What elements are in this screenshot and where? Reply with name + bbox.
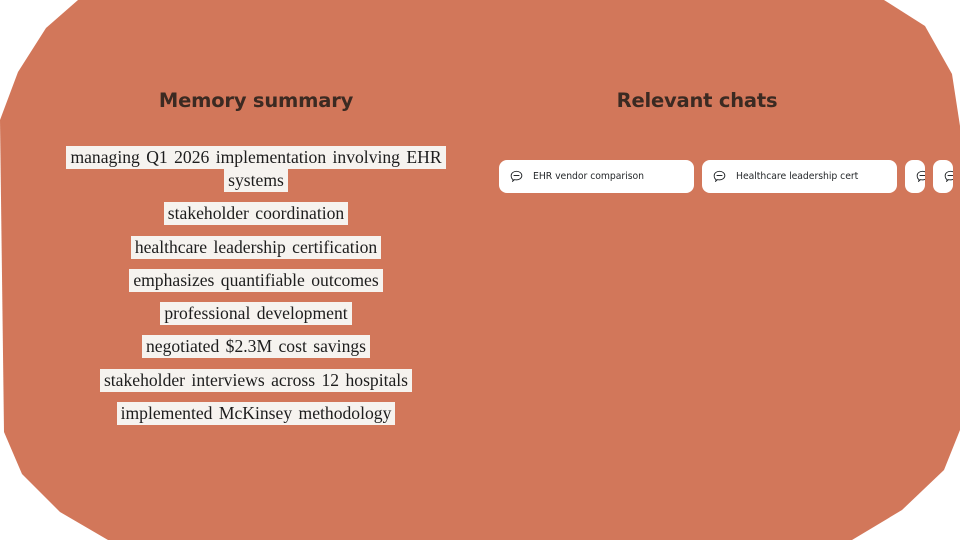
- chat-bubble-icon: [943, 169, 953, 184]
- chat-bubble-icon: [915, 169, 925, 184]
- memory-summary-item: stakeholder coordination: [164, 202, 348, 225]
- memory-summary-item-text: negotiated $2.3M cost savings: [142, 335, 370, 358]
- chat-card-label: Healthcare leadership cert: [736, 171, 858, 182]
- memory-summary-item-text: implemented McKinsey methodology: [117, 402, 396, 425]
- chat-card[interactable]: Healthcare leadership cert: [702, 160, 897, 193]
- memory-summary-item-text: stakeholder interviews across 12 hospita…: [100, 369, 412, 392]
- memory-summary-item: emphasizes quantifiable outcomes: [129, 269, 382, 292]
- memory-summary-item: implemented McKinsey methodology: [117, 402, 396, 425]
- chat-bubble-icon: [712, 169, 727, 184]
- memory-summary-item-text: healthcare leadership certification: [131, 236, 381, 259]
- memory-summary-item: managing Q1 2026 implementation involvin…: [66, 146, 446, 192]
- chat-card-label: EHR vendor comparison: [533, 171, 644, 182]
- content-area: Memory summary Relevant chats managing Q…: [0, 0, 960, 540]
- memory-summary-item-text: stakeholder coordination: [164, 202, 348, 225]
- memory-summary-item: professional development: [160, 302, 351, 325]
- chat-card[interactable]: McKinsey methodology: [905, 160, 925, 193]
- memory-summary-item: stakeholder interviews across 12 hospita…: [100, 369, 412, 392]
- memory-summary-item-text: managing Q1 2026 implementation involvin…: [66, 146, 445, 192]
- chat-bubble-icon: [509, 169, 524, 184]
- memory-summary-item-text: emphasizes quantifiable outcomes: [129, 269, 382, 292]
- memory-summary-title: Memory summary: [0, 89, 512, 112]
- memory-summary-item: healthcare leadership certification: [131, 236, 381, 259]
- memory-summary-list: managing Q1 2026 implementation involvin…: [30, 146, 482, 425]
- screen: Memory summary Relevant chats managing Q…: [0, 0, 960, 540]
- relevant-chats-grid: EHR vendor comparisonHealthcare leadersh…: [499, 160, 897, 193]
- memory-summary-item: negotiated $2.3M cost savings: [142, 335, 370, 358]
- chat-card[interactable]: EHR vendor comparison: [499, 160, 694, 193]
- memory-summary-item-text: professional development: [160, 302, 351, 325]
- relevant-chats-title: Relevant chats: [497, 89, 897, 112]
- chat-card[interactable]: McKinsey training program: [933, 160, 953, 193]
